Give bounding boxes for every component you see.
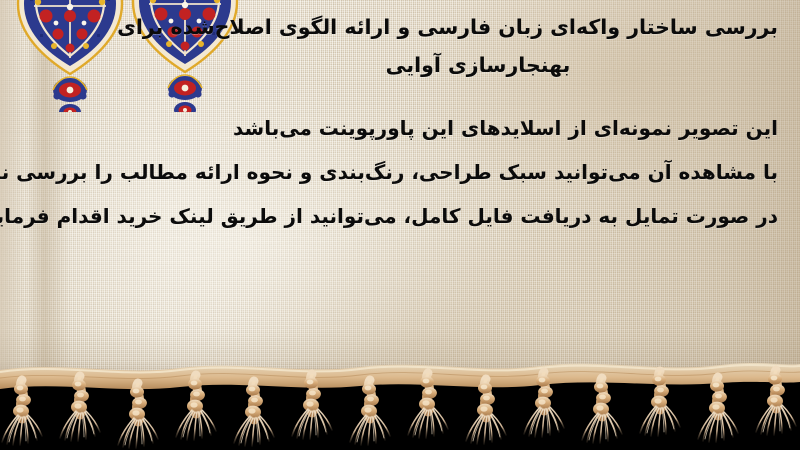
fringe-tassel xyxy=(118,383,158,448)
slide-text-layer: بررسی ساختار واکه‌ای زبان فارسی و ارائه … xyxy=(0,0,800,386)
body-line-3: در صورت تمایل به دریافت فایل کامل، می‌تو… xyxy=(18,194,778,238)
carpet-fringe xyxy=(0,356,800,450)
fringe-tassel xyxy=(698,377,738,442)
title-line-1: بررسی ساختار واکه‌ای زبان فارسی و ارائه … xyxy=(178,8,778,46)
slide-canvas: بررسی ساختار واکه‌ای زبان فارسی و ارائه … xyxy=(0,0,800,450)
slide-title: بررسی ساختار واکه‌ای زبان فارسی و ارائه … xyxy=(178,8,778,84)
fringe-tassel xyxy=(234,381,274,446)
title-line-2: بهنجارسازی آوایی xyxy=(178,46,778,84)
fringe-tassel xyxy=(350,380,390,445)
fringe-tassel xyxy=(466,379,506,444)
fringe-tassel xyxy=(2,380,42,445)
slide-body: این تصویر نمونه‌ای از اسلایدهای این پاور… xyxy=(18,106,778,238)
body-line-1: این تصویر نمونه‌ای از اسلایدهای این پاور… xyxy=(18,106,778,150)
fringe-tassel xyxy=(582,378,622,443)
body-line-2: با مشاهده آن می‌توانید سبک طراحی، رنگ‌بن… xyxy=(18,150,778,194)
